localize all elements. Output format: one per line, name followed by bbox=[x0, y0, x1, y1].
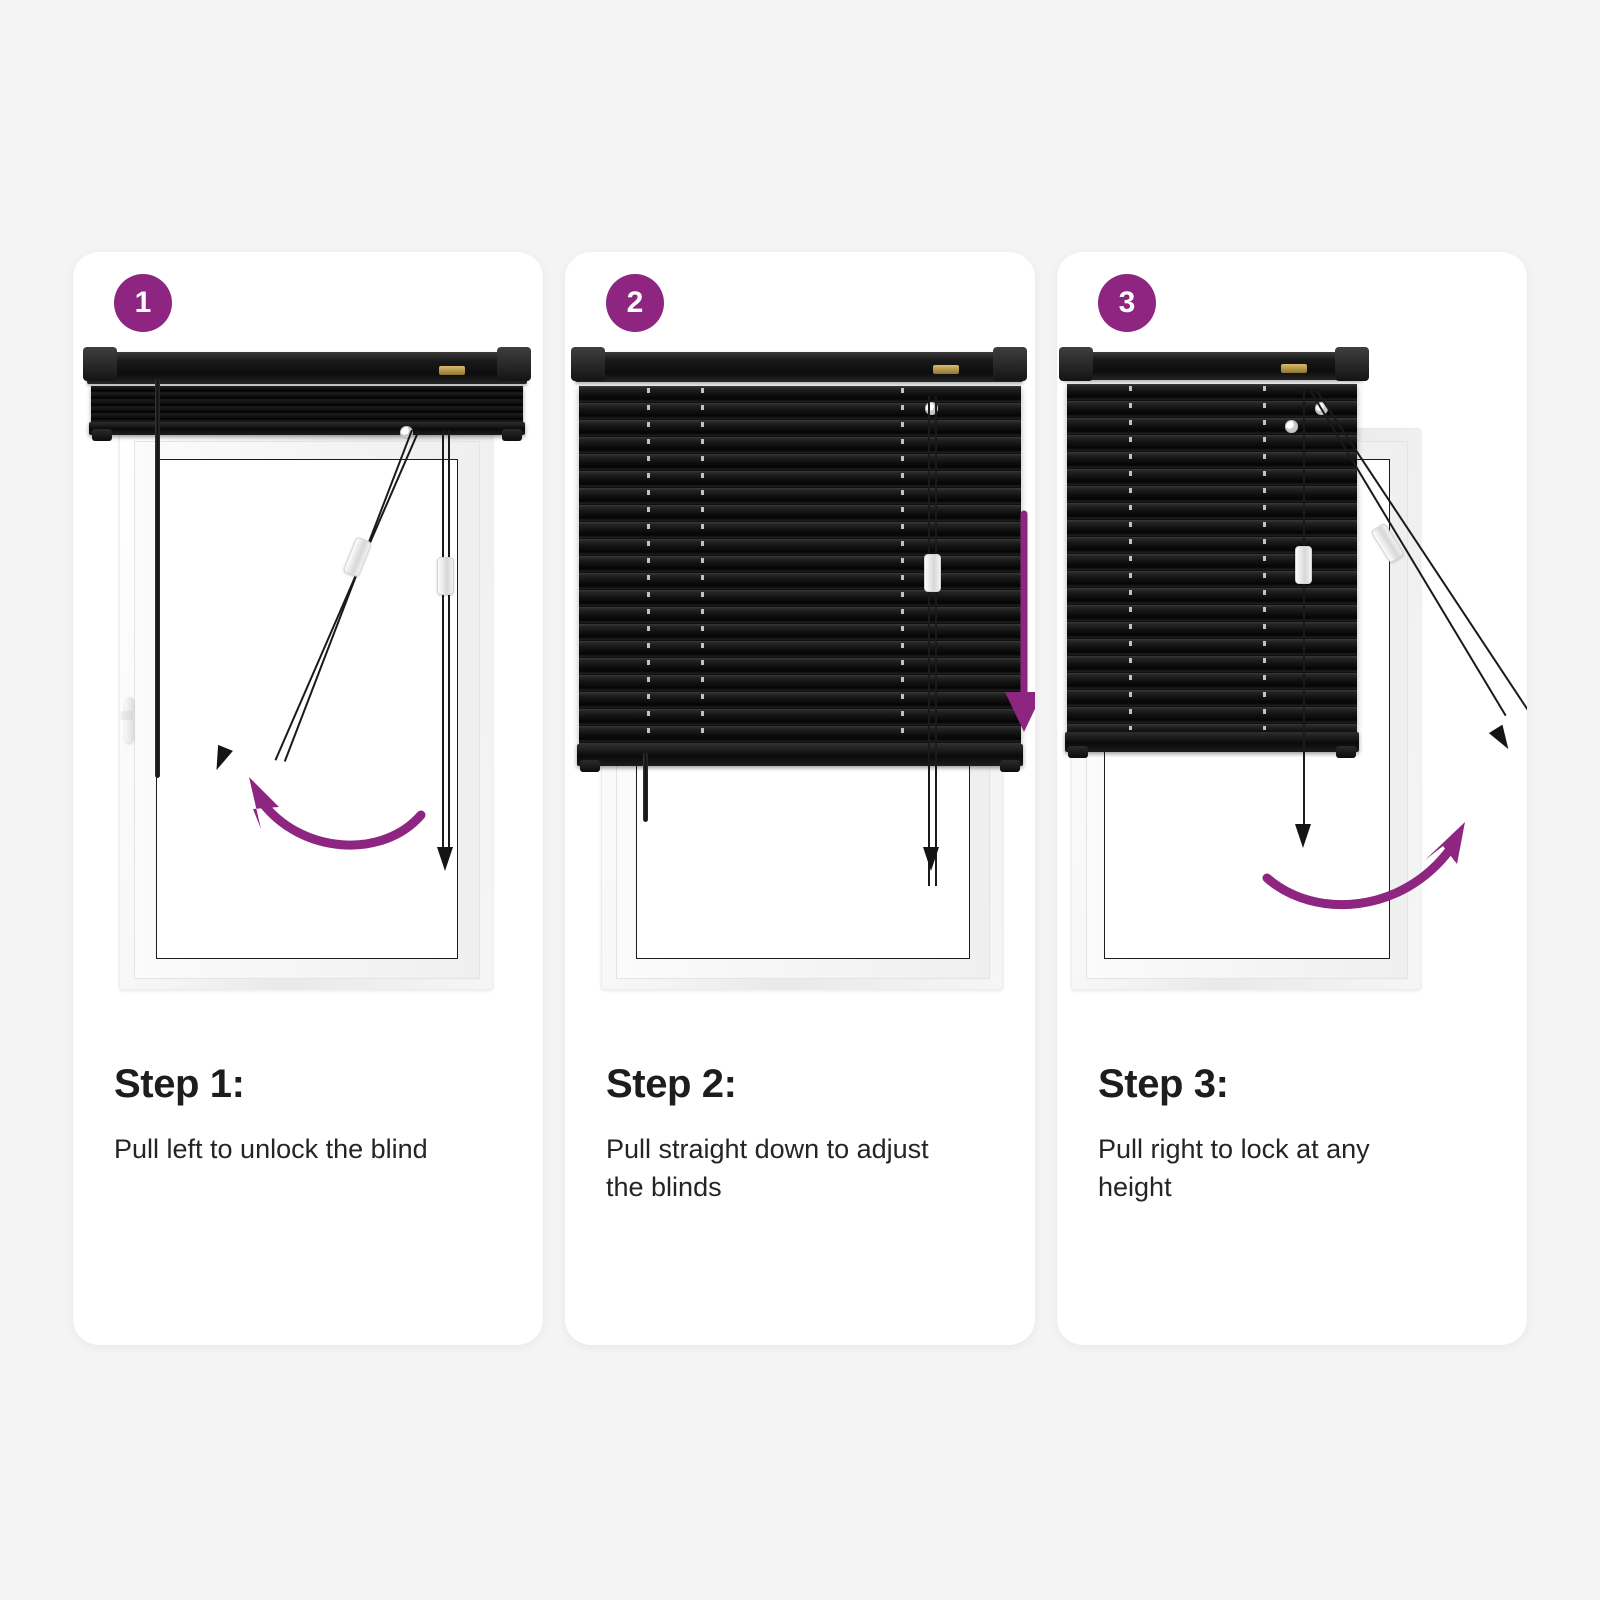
blind-headrail-3 bbox=[1063, 352, 1363, 380]
step-title-3: Step 3: bbox=[1098, 1064, 1498, 1104]
lift-cord-hanging-b-1[interactable] bbox=[448, 430, 450, 850]
step-illustration-2 bbox=[565, 342, 1035, 1042]
lift-cord-b-2[interactable] bbox=[935, 396, 937, 886]
blind-slats-partial-3 bbox=[1067, 384, 1357, 732]
cord-tassel-hanging-1[interactable] bbox=[437, 847, 453, 871]
window-handle-1 bbox=[125, 697, 134, 743]
tilt-mechanism-1 bbox=[439, 366, 465, 375]
step-text-1: Step 1: Pull left to unlock the blind bbox=[114, 1064, 514, 1168]
arrow-pull-left-icon bbox=[203, 737, 433, 867]
headrail-bracket-right-1 bbox=[497, 347, 531, 381]
blind-slats-lowered-2 bbox=[579, 386, 1021, 744]
headrail-bracket-right-2 bbox=[993, 347, 1027, 381]
cord-condenser-hanging-3[interactable] bbox=[1295, 546, 1312, 584]
step-illustration-3 bbox=[1057, 342, 1527, 1042]
step-text-2: Step 2: Pull straight down to adjust the… bbox=[606, 1064, 1006, 1207]
arrow-pull-down-icon bbox=[1001, 510, 1035, 736]
ladder-cord-right-2 bbox=[901, 388, 904, 742]
step-title-2: Step 2: bbox=[606, 1064, 1006, 1104]
arrow-pull-right-icon bbox=[1253, 782, 1493, 922]
headrail-bracket-right-3 bbox=[1335, 347, 1369, 381]
step-number-badge-1: 1 bbox=[114, 274, 172, 332]
steps-board: 1 bbox=[0, 0, 1600, 1600]
headrail-bracket-left-1 bbox=[83, 347, 117, 381]
step-description-1: Pull left to unlock the blind bbox=[114, 1130, 444, 1168]
step-text-3: Step 3: Pull right to lock at any height bbox=[1098, 1064, 1498, 1207]
lift-cord-hanging-a-1[interactable] bbox=[442, 430, 444, 850]
ladder-cord-center-3 bbox=[1263, 386, 1266, 730]
step-card-1: 1 bbox=[73, 252, 543, 1345]
step-illustration-1 bbox=[73, 342, 543, 1042]
blind-bottom-rail-3 bbox=[1065, 732, 1359, 752]
headrail-bracket-left-3 bbox=[1059, 347, 1093, 381]
ladder-cord-left-3 bbox=[1129, 386, 1132, 730]
lift-cord-a-2[interactable] bbox=[928, 396, 930, 886]
window-glass-1 bbox=[156, 459, 458, 959]
step-description-3: Pull right to lock at any height bbox=[1098, 1130, 1428, 1207]
tilt-mechanism-3 bbox=[1281, 364, 1307, 373]
ladder-cord-center-2 bbox=[701, 388, 704, 742]
tilt-mechanism-2 bbox=[933, 365, 959, 374]
step-card-3: 3 bbox=[1057, 252, 1527, 1345]
step-number-badge-2: 2 bbox=[606, 274, 664, 332]
headrail-bracket-left-2 bbox=[571, 347, 605, 381]
cord-condenser-2[interactable] bbox=[924, 554, 941, 592]
step-description-2: Pull straight down to adjust the blinds bbox=[606, 1130, 936, 1207]
step-number-badge-3: 3 bbox=[1098, 274, 1156, 332]
cord-tassel-pulled-3[interactable] bbox=[1489, 725, 1515, 754]
tilt-wand-1[interactable] bbox=[155, 378, 160, 778]
cord-tassel-2[interactable] bbox=[923, 847, 939, 871]
blind-headrail-1 bbox=[87, 352, 527, 384]
tilt-wand-2[interactable] bbox=[643, 752, 648, 822]
cord-cleat-a-3 bbox=[1285, 420, 1298, 433]
ladder-cord-left-2 bbox=[647, 388, 650, 742]
step-title-1: Step 1: bbox=[114, 1064, 514, 1104]
cord-condenser-hanging-1[interactable] bbox=[437, 557, 454, 595]
step-card-2: 2 bbox=[565, 252, 1035, 1345]
window-frame-1 bbox=[119, 428, 493, 990]
blind-headrail-2 bbox=[575, 352, 1023, 382]
lift-cord-hanging-3[interactable] bbox=[1303, 390, 1305, 830]
